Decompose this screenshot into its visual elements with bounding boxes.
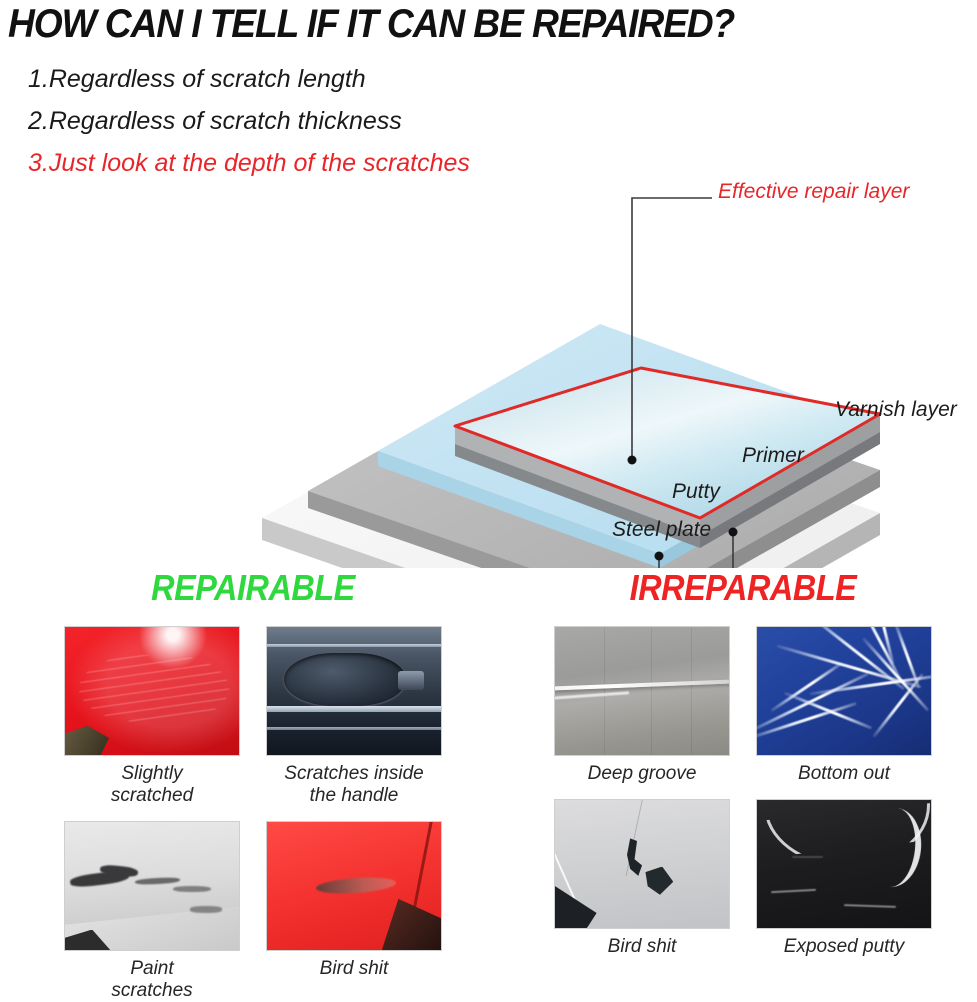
column-repairable: REPAIRABLE Slightlyscratched <box>18 568 488 608</box>
rule-item-1: 1.Regardless of scratch length <box>28 58 648 100</box>
repairable-photo-grid: Slightlyscratched Scratches insidethe ha… <box>18 626 488 1002</box>
photo-red-panel-light-scratches <box>64 626 240 756</box>
irreparable-heading: IRREPARABLE <box>532 568 955 608</box>
paint-layer-diagram: Effective repair layer Varnish layer Pri… <box>0 168 977 568</box>
grid-item: Slightlyscratched <box>57 626 247 807</box>
photo-white-panel-bird-dropping <box>554 799 730 929</box>
photo-caption: Deep groove <box>547 763 737 785</box>
grid-item: Deep groove <box>547 626 737 785</box>
photo-white-panel-paint-scratches <box>64 821 240 951</box>
grid-item: Paintscratches <box>57 821 247 1002</box>
comparison-section: REPAIRABLE Slightlyscratched <box>0 568 977 1000</box>
photo-caption: Scratches insidethe handle <box>259 763 449 807</box>
diagram-label-steel-plate: Steel plate <box>612 518 711 542</box>
photo-caption: Paintscratches <box>57 958 247 1002</box>
layer-stack-svg <box>0 168 977 568</box>
photo-gray-metal-deep-groove <box>554 626 730 756</box>
grid-item: Bird shit <box>259 821 449 1002</box>
photo-red-panel-stain <box>266 821 442 951</box>
photo-blue-panel-white-scratches <box>756 626 932 756</box>
grid-item: Exposed putty <box>749 799 939 958</box>
diagram-label-putty: Putty <box>672 480 720 504</box>
rule-item-2: 2.Regardless of scratch thickness <box>28 100 648 142</box>
diagram-label-varnish-layer: Varnish layer <box>835 398 957 422</box>
photo-caption: Bottom out <box>749 763 939 785</box>
photo-caption: Bird shit <box>547 936 737 958</box>
photo-caption: Bird shit <box>259 958 449 980</box>
repairable-heading: REPAIRABLE <box>42 568 465 608</box>
irreparable-photo-grid: Deep groove <box>508 626 977 958</box>
photo-caption: Slightlyscratched <box>57 763 247 807</box>
diagram-label-primer: Primer <box>742 444 804 468</box>
photo-dark-panel-exposed-putty <box>756 799 932 929</box>
photo-dark-door-handle <box>266 626 442 756</box>
page-title: HOW CAN I TELL IF IT CAN BE REPAIRED? <box>8 2 901 46</box>
rules-list: 1.Regardless of scratch length 2.Regardl… <box>28 58 648 184</box>
photo-caption: Exposed putty <box>749 936 939 958</box>
column-irreparable: IRREPARABLE Deep groove <box>508 568 977 608</box>
grid-item: Bird shit <box>547 799 737 958</box>
grid-item: Bottom out <box>749 626 939 785</box>
grid-item: Scratches insidethe handle <box>259 626 449 807</box>
diagram-label-effective-repair-layer: Effective repair layer <box>718 180 909 204</box>
